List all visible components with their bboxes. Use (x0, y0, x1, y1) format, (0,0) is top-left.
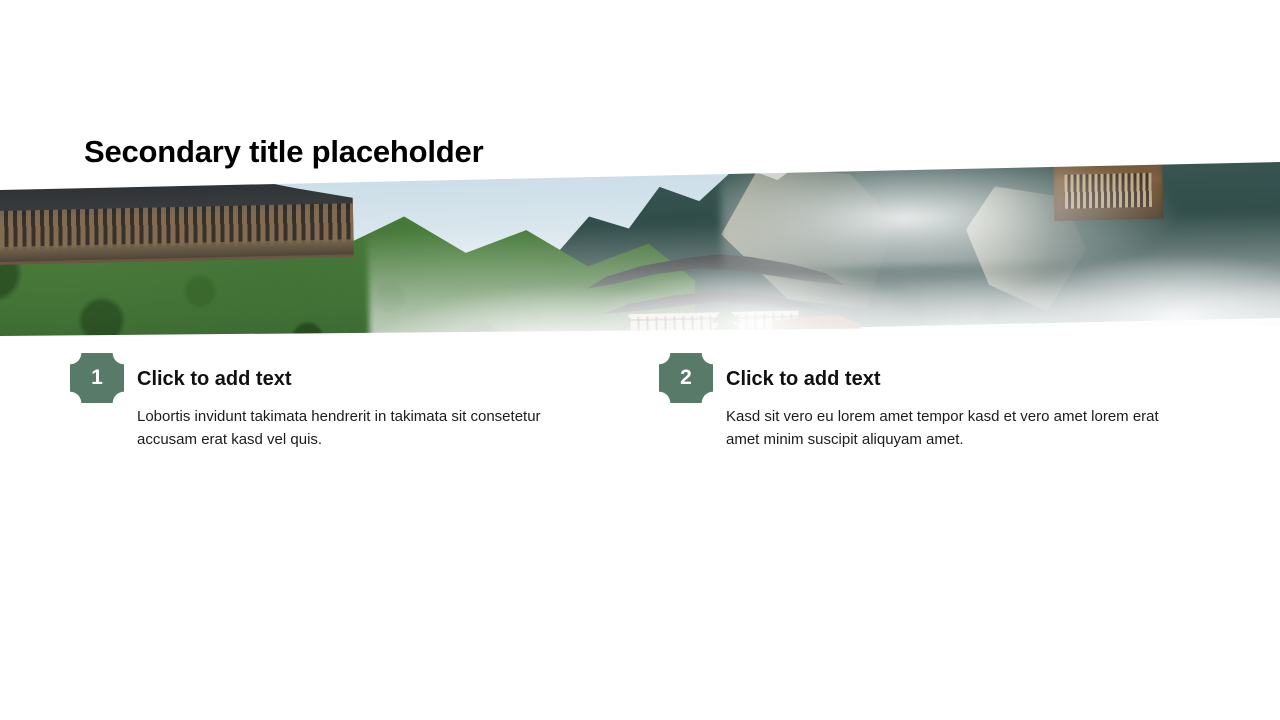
boat (461, 363, 560, 379)
number-badge-2[interactable]: 2 (659, 353, 713, 403)
column-heading-1[interactable]: Click to add text (137, 366, 291, 392)
boat (887, 350, 986, 366)
column-body-1[interactable]: Lobortis invidunt takimata hendrerit in … (137, 405, 589, 451)
number-badge-1[interactable]: 1 (70, 353, 124, 403)
page-title[interactable]: Secondary title placeholder (84, 131, 483, 173)
column-body-2[interactable]: Kasd sit vero eu lorem amet tempor kasd … (726, 405, 1196, 451)
banner-image[interactable] (0, 150, 1280, 350)
slide-canvas: Secondary title placeholder (0, 0, 1280, 720)
column-heading-2[interactable]: Click to add text (726, 366, 880, 392)
boat (331, 363, 423, 379)
